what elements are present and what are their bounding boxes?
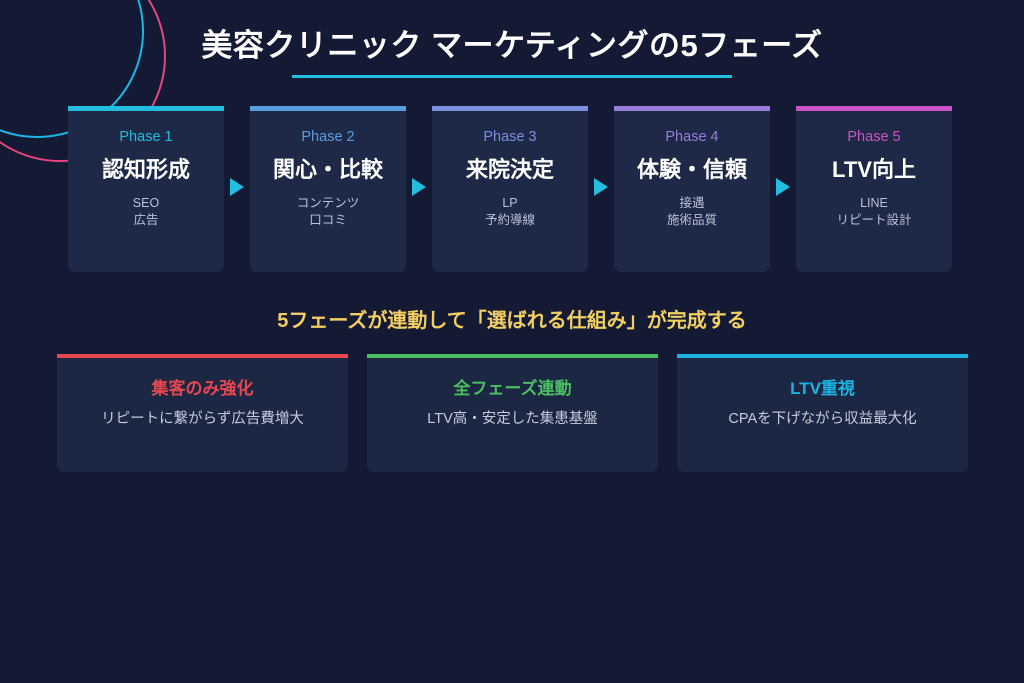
phase-item: 予約導線 [432, 212, 588, 229]
phase-item: 接遇 [614, 195, 770, 212]
flow-arrow-icon [588, 106, 614, 272]
phase-card-2[interactable]: Phase 2関心・比較コンテンツ口コミ [250, 106, 406, 272]
flow-arrow-icon [406, 106, 432, 272]
outcome-row: 集客のみ強化リピートに繋がらず広告費増大全フェーズ連動LTV高・安定した集患基盤… [57, 354, 968, 472]
arrow-right-icon [776, 178, 790, 196]
phase-title: 認知形成 [68, 156, 224, 184]
title-underline [292, 75, 732, 78]
arrow-right-icon [230, 178, 244, 196]
outcome-card-2[interactable]: 全フェーズ連動LTV高・安定した集患基盤 [367, 354, 658, 472]
phase-label: Phase 3 [432, 128, 588, 146]
phase-label: Phase 5 [796, 128, 952, 146]
outcome-title: 全フェーズ連動 [367, 378, 658, 400]
phase-flow: Phase 1認知形成SEO広告Phase 2関心・比較コンテンツ口コミPhas… [68, 106, 958, 272]
phase-card-1[interactable]: Phase 1認知形成SEO広告 [68, 106, 224, 272]
arrow-right-icon [594, 178, 608, 196]
title-block: 美容クリニック マーケティングの5フェーズ [0, 26, 1024, 78]
outcome-card-3[interactable]: LTV重視CPAを下げながら収益最大化 [677, 354, 968, 472]
phase-item: 施術品質 [614, 212, 770, 229]
phase-label: Phase 2 [250, 128, 406, 146]
phase-item: 広告 [68, 212, 224, 229]
phase-item-list: LINEリピート設計 [796, 195, 952, 228]
phase-item: SEO [68, 195, 224, 212]
phase-item: 口コミ [250, 212, 406, 229]
flow-arrow-icon [224, 106, 250, 272]
phase-item-list: 接遇施術品質 [614, 195, 770, 228]
phase-item: リピート設計 [796, 212, 952, 229]
arrow-right-icon [412, 178, 426, 196]
phase-item-list: コンテンツ口コミ [250, 195, 406, 228]
outcome-description: リピートに繋がらず広告費増大 [57, 409, 348, 429]
phase-card-3[interactable]: Phase 3来院決定LP予約導線 [432, 106, 588, 272]
slide-canvas: 美容クリニック マーケティングの5フェーズ Phase 1認知形成SEO広告Ph… [0, 0, 1024, 683]
outcome-title: LTV重視 [677, 378, 968, 400]
outcome-card-1[interactable]: 集客のみ強化リピートに繋がらず広告費増大 [57, 354, 348, 472]
phase-card-5[interactable]: Phase 5LTV向上LINEリピート設計 [796, 106, 952, 272]
phase-label: Phase 1 [68, 128, 224, 146]
phase-item: LINE [796, 195, 952, 212]
phase-card-4[interactable]: Phase 4体験・信頼接遇施術品質 [614, 106, 770, 272]
phase-title: 来院決定 [432, 156, 588, 184]
phase-item: LP [432, 195, 588, 212]
outcome-description: CPAを下げながら収益最大化 [677, 409, 968, 429]
flow-arrow-icon [770, 106, 796, 272]
phase-item-list: SEO広告 [68, 195, 224, 228]
mid-headline: 5フェーズが連動して「選ばれる仕組み」が完成する [0, 308, 1024, 334]
outcome-description: LTV高・安定した集患基盤 [367, 409, 658, 429]
phase-item-list: LP予約導線 [432, 195, 588, 228]
page-title: 美容クリニック マーケティングの5フェーズ [0, 26, 1024, 66]
phase-title: 体験・信頼 [614, 156, 770, 184]
phase-label: Phase 4 [614, 128, 770, 146]
phase-title: LTV向上 [796, 156, 952, 184]
outcome-title: 集客のみ強化 [57, 378, 348, 400]
phase-title: 関心・比較 [250, 156, 406, 184]
phase-item: コンテンツ [250, 195, 406, 212]
